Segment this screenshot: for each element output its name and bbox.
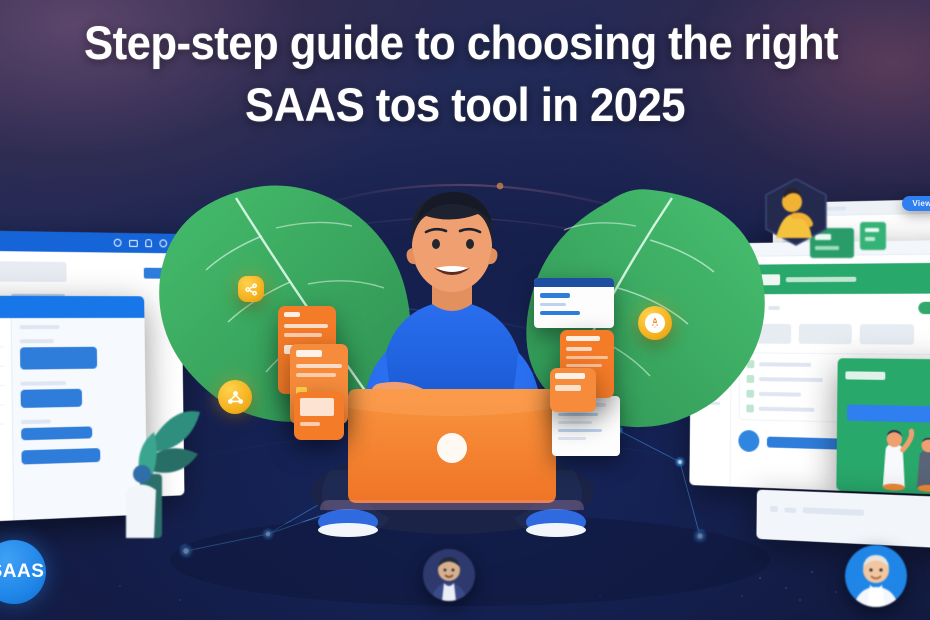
green-card-header [837,358,930,395]
person-body [362,192,542,444]
sidebar [689,257,732,487]
network-icon-badge[interactable] [218,380,252,414]
table-row[interactable] [0,346,4,367]
sidebar-item[interactable] [695,337,726,342]
cart-icon[interactable] [129,239,138,246]
avatar-bottom-right[interactable] [845,545,907,607]
share-nodes-icon [244,282,259,297]
rocket-icon-inner-circle [645,313,665,333]
sidebar-item[interactable] [695,375,726,380]
rocket-icon-badge[interactable] [638,306,672,340]
orange-laptop [320,389,584,510]
chat-window-top[interactable] [534,278,614,328]
chat-bubble[interactable] [21,448,100,464]
saas-logo-label: SAAS [0,561,44,583]
sidebar-item[interactable] [695,388,726,393]
headline-line-1: Step-step guide to choosing the right [34,14,888,72]
table-row[interactable] [0,424,5,446]
sidebar-item[interactable] [696,312,727,317]
headline-line-2: SAAS tos tool in 2025 [42,76,888,134]
sidebar-item[interactable] [695,350,726,355]
avatar-person-icon [423,549,475,601]
saas-logo-badge[interactable]: SAAS [0,540,46,604]
cta-pill-top-right[interactable]: View [902,196,930,211]
orange-card-3[interactable] [294,392,344,440]
left-plant-illustration [96,352,216,542]
sidebar-item[interactable] [696,325,727,330]
people-illustration [860,421,930,497]
share-icon-badge[interactable] [238,276,264,302]
sidebar-item[interactable] [696,299,727,304]
table-row[interactable] [0,366,4,387]
hero-banner: Step-step guide to choosing the right SA… [0,0,930,620]
seated-base [310,450,594,537]
sidebar-item[interactable] [695,401,726,407]
chat-bubble[interactable] [21,426,92,440]
menu-icon[interactable] [174,239,176,248]
avatar-bottom-center[interactable] [423,549,475,601]
window-title-bar [0,295,144,318]
avatar-person-icon [845,545,907,607]
hero-headline: Step-step guide to choosing the right SA… [0,14,930,135]
chat-icon[interactable] [738,430,759,452]
chat-bubble[interactable] [20,347,97,370]
bell-icon[interactable] [145,239,152,247]
chat-bubble[interactable] [21,389,83,408]
search-icon[interactable] [114,239,122,247]
sidebar-item[interactable] [695,363,726,368]
window-title-bar [0,230,181,254]
user-icon[interactable] [159,239,167,247]
right-bottom-bar[interactable] [756,490,930,551]
cta-pill[interactable] [918,302,930,314]
network-icon [226,388,245,407]
avatar-top-right-hex[interactable] [760,176,832,248]
right-green-card[interactable] [836,358,930,496]
orange-card-5[interactable] [550,368,596,412]
cta-pill-label: View [912,199,930,208]
rocket-icon [649,317,661,329]
stat-tiles [739,324,930,345]
